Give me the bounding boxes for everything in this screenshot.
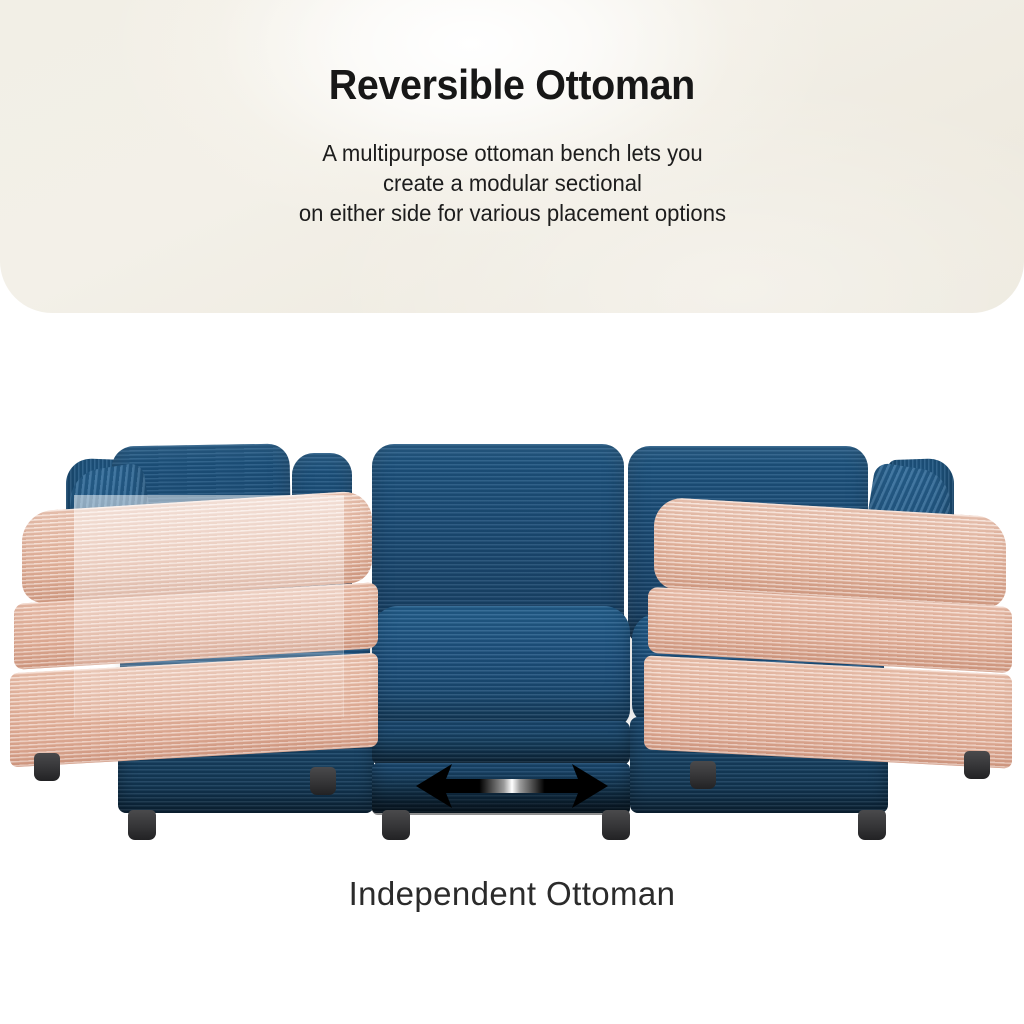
product-feature-card: Reversible Ottoman A multipurpose ottoma… bbox=[0, 0, 1024, 1024]
ottoman-right-leg-left bbox=[690, 761, 716, 789]
ottoman-right-base bbox=[644, 655, 1012, 768]
ottoman-right-leg-front bbox=[964, 751, 990, 779]
reversible-direction-arrow bbox=[412, 756, 612, 816]
header-content: Reversible Ottoman A multipurpose ottoma… bbox=[0, 0, 1024, 313]
ottoman-left-leg-right bbox=[310, 767, 336, 795]
ottoman-right bbox=[644, 499, 1016, 839]
sofa-seat-cushion-middle bbox=[372, 606, 630, 728]
page-title: Reversible Ottoman bbox=[329, 62, 695, 108]
product-stage: Independent Ottoman bbox=[0, 313, 1024, 1024]
double-arrow-icon bbox=[412, 756, 612, 816]
header-panel: Reversible Ottoman A multipurpose ottoma… bbox=[0, 0, 1024, 313]
modular-sofa-illustration bbox=[0, 313, 1024, 873]
ottoman-left-leg-front bbox=[34, 753, 60, 781]
ottoman-left bbox=[10, 501, 380, 841]
sofa-leg-center-left bbox=[382, 810, 410, 840]
page-subtitle: A multipurpose ottoman bench lets you cr… bbox=[298, 138, 725, 228]
product-caption: Independent Ottoman bbox=[0, 875, 1024, 913]
ottoman-left-base bbox=[10, 653, 378, 768]
